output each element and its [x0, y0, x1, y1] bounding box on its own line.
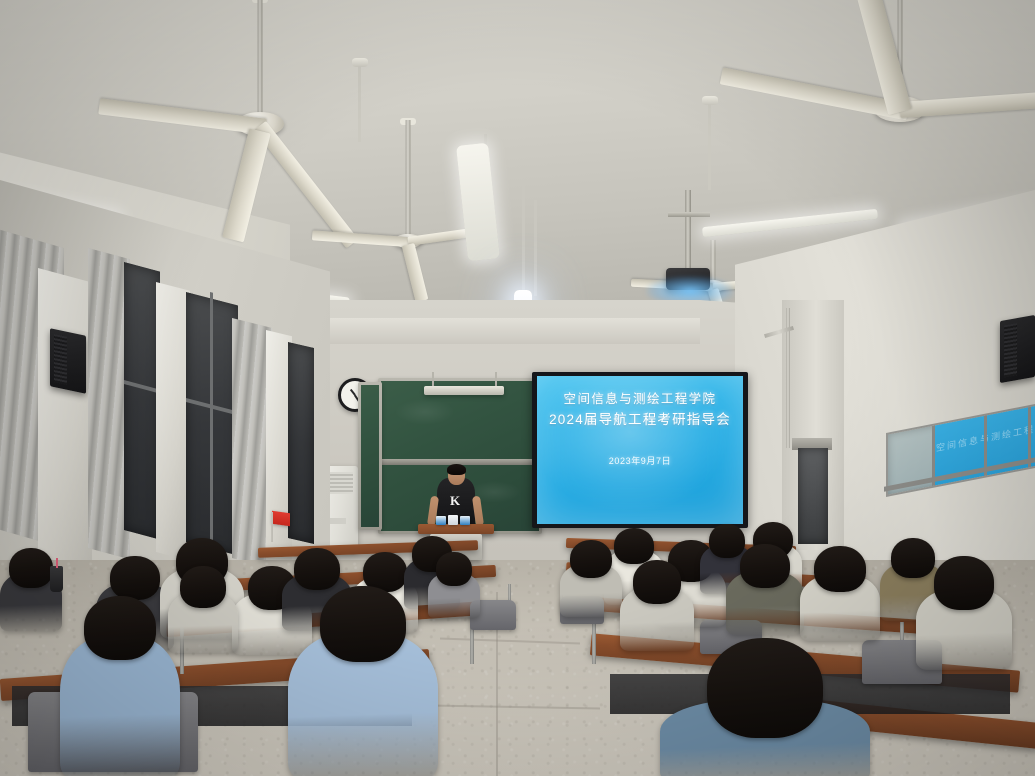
- audience-head: [814, 546, 866, 592]
- audience-head: [436, 552, 472, 586]
- flag-pole: [271, 512, 273, 542]
- presenter-shirt-logo: K: [450, 494, 460, 507]
- audience-member: [288, 586, 438, 776]
- ceiling-mount-rod-2: [708, 104, 711, 190]
- ceiling-mount-rod-1: [358, 66, 361, 142]
- audience-member: [560, 540, 622, 614]
- chinese-flag: [272, 511, 290, 527]
- audience-member: [800, 546, 880, 638]
- wall-speaker-right: [1000, 315, 1035, 383]
- audience-head: [934, 556, 994, 610]
- projector-pole: [685, 190, 691, 272]
- window-left-3: [288, 342, 314, 544]
- audience-head: [320, 586, 406, 662]
- ceiling-fan-3: [795, 0, 1005, 170]
- slide-surface: 空间信息与测绘工程学院 2024届导航工程考研指导会 2023年9月7日: [537, 376, 743, 524]
- wall-pillar-1: [38, 268, 92, 582]
- wall-upper-band: [330, 318, 700, 344]
- audience-member: [660, 638, 870, 776]
- slide-line-1: 空间信息与测绘工程学院: [537, 390, 743, 409]
- slide-title-block: 空间信息与测绘工程学院 2024届导航工程考研指导会: [537, 390, 743, 430]
- wall-speaker-left: [50, 328, 86, 394]
- classroom-photo: 空间信息与测绘工程 空间信息与测绘工程学院: [0, 0, 1035, 776]
- podium-box-1: [436, 516, 446, 525]
- projection-screen: 空间信息与测绘工程学院 2024届导航工程考研指导会 2023年9月7日: [532, 372, 748, 528]
- audience-head: [180, 566, 226, 608]
- podium-box-2: [448, 515, 458, 525]
- presenter-hair: [447, 464, 466, 475]
- audience-head: [110, 556, 160, 600]
- audience-head: [570, 540, 612, 578]
- slide-line-2: 2024届导航工程考研指导会: [537, 409, 743, 431]
- podium: [418, 524, 494, 534]
- doorway[interactable]: [798, 448, 828, 544]
- mug-straw: [56, 558, 58, 568]
- desk-leg-3: [592, 620, 596, 664]
- audience-member: [620, 560, 694, 648]
- audience-member: [428, 552, 480, 616]
- wall-pillar-2: [156, 282, 190, 561]
- audience-head: [294, 548, 340, 590]
- audience-head: [740, 544, 790, 588]
- chalkboard-side-panel: [358, 382, 382, 530]
- audience-member: [726, 544, 804, 632]
- window-left-2-mullion-v: [210, 292, 213, 543]
- ceiling-fan-1: [175, 0, 345, 150]
- audience-member: [916, 556, 1012, 666]
- chalkboard-light: [424, 386, 504, 395]
- window-left-1: [124, 262, 160, 540]
- slide-date: 2023年9月7日: [537, 454, 743, 467]
- audience-head: [9, 548, 53, 588]
- chalkboard-smudge-1: [395, 399, 455, 425]
- chalkboard-light-rod-1: [432, 372, 434, 386]
- audience-head: [84, 596, 156, 660]
- audience-head: [633, 560, 681, 604]
- audience-head: [707, 638, 823, 738]
- travel-mug: [50, 566, 63, 592]
- audience-member: [168, 566, 238, 650]
- podium-box-3: [460, 516, 470, 525]
- audience-member: [60, 596, 180, 776]
- chalkboard-light-rod-2: [495, 372, 497, 386]
